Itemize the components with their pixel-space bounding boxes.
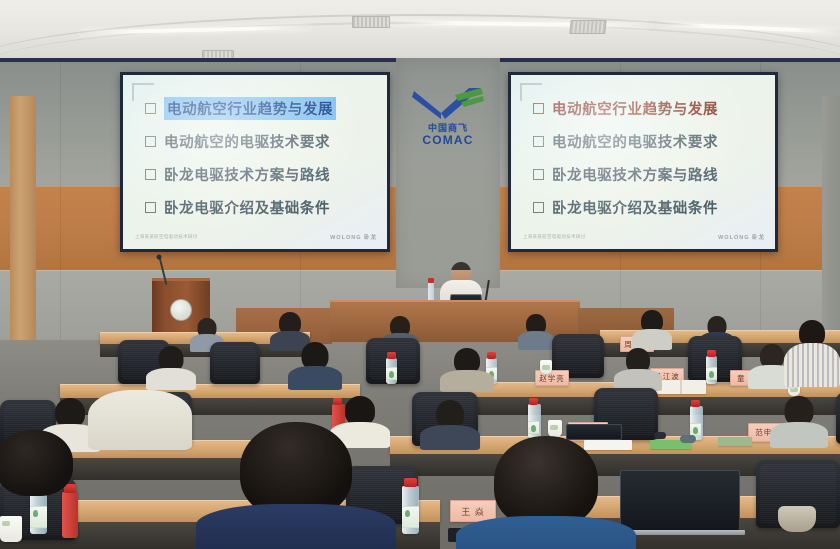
wall-panel-joint: [60, 62, 61, 352]
bottle-cap: [387, 352, 396, 359]
comac-logo-english: COMAC: [404, 134, 492, 147]
attendee-foreground-far-left: [0, 430, 120, 500]
attendee: [288, 342, 342, 388]
slide-bullet-text: 电动航空的电驱技术要求: [552, 131, 718, 152]
slide-bullet-text: 卧龙电驱介绍及基础条件: [164, 197, 330, 218]
checkbox-icon: [533, 202, 544, 213]
slide-bullet-item: 卧龙电驱介绍及基础条件: [145, 196, 377, 218]
attendee-torso: [632, 329, 672, 350]
attendee: [614, 348, 662, 388]
podium-emblem: [170, 299, 192, 321]
ceiling: [0, 0, 840, 62]
bottle-label: [528, 421, 539, 434]
ceiling-air-vent: [569, 20, 606, 34]
slide-bullet-list: 电动航空行业趋势与发展 电动航空的电驱技术要求 卧龙电驱技术方案与路线 卧龙电驱…: [145, 97, 377, 229]
slide-bullet-text: 电动航空行业趋势与发展: [552, 98, 718, 119]
laptop[interactable]: [620, 470, 740, 532]
slide-bullet-text: 电动航空行业趋势与发展: [164, 97, 336, 120]
bottle-label: [386, 367, 397, 380]
slide-bullet-item: 卧龙电驱介绍及基础条件: [533, 196, 765, 218]
attendee-foreground-center: [456, 436, 636, 549]
water-bottle: [528, 404, 541, 438]
attendee: [518, 314, 554, 348]
wall-wood-pilaster-left: [10, 96, 36, 356]
slide-footer-left-text: 上海某某航空电驱动技术研讨: [523, 234, 585, 240]
attendee-head: [0, 430, 73, 496]
attendee-torso: [784, 343, 840, 387]
bottle-cap: [529, 398, 538, 405]
bottle-cap: [707, 350, 716, 357]
green-booklet: [718, 437, 752, 446]
name-placard: 赵学亮: [535, 370, 569, 386]
slide-bullet-item: 电动航空行业趋势与发展: [145, 97, 377, 119]
checkbox-icon: [533, 169, 544, 180]
attendee-torso: [518, 331, 554, 350]
attendee-head: [494, 436, 598, 528]
attendee-torso: [456, 516, 636, 549]
slide-footer-left-text: 上海某某航空电驱动技术研讨: [135, 234, 197, 240]
slide-footer: 上海某某航空电驱动技术研讨 WOLONG 卧龙: [523, 233, 765, 241]
checkbox-icon: [533, 136, 544, 147]
checkbox-icon: [145, 169, 156, 180]
slide-footer: 上海某某航空电驱动技术研讨 WOLONG 卧龙: [135, 233, 377, 241]
paper-cup: [540, 360, 552, 374]
bottle-label: [402, 506, 419, 528]
desk-accessory: [680, 435, 696, 443]
slide-bullet-text: 卧龙电驱介绍及基础条件: [552, 197, 718, 218]
checkbox-icon: [533, 103, 544, 114]
slide-bullet-list: 电动航空行业趋势与发展 电动航空的电驱技术要求 卧龙电驱技术方案与路线 卧龙电驱…: [533, 97, 765, 229]
paper-cup: [548, 420, 562, 437]
open-notebook: [656, 380, 706, 394]
attendee-right-striped: [784, 320, 840, 386]
slide-bullet-item: 卧龙电驱技术方案与路线: [145, 163, 377, 185]
ceiling-air-vent: [352, 16, 390, 28]
comac-mark-icon: [411, 86, 485, 120]
water-bottle: [706, 356, 717, 384]
ceramic-bowl: [778, 506, 816, 532]
bottle-label: [706, 367, 717, 380]
slide-bullet-item: 卧龙电驱技术方案与路线: [533, 163, 765, 185]
wall-pilaster-right: [822, 96, 840, 356]
slide-bullet-item: 电动航空的电驱技术要求: [533, 130, 765, 152]
bottle-label: [30, 506, 47, 528]
bottle-cap: [404, 478, 417, 487]
checkbox-icon: [145, 136, 156, 147]
attendee: [770, 396, 828, 446]
slide-bullet-text: 卧龙电驱技术方案与路线: [164, 164, 330, 185]
wolong-footer-logo: WOLONG 卧龙: [718, 233, 765, 241]
attendee-torso: [440, 370, 494, 392]
attendee: [440, 348, 494, 388]
attendee-foreground-left: [196, 422, 396, 549]
wolong-footer-logo: WOLONG 卧龙: [330, 233, 377, 241]
slide-bullet-text: 卧龙电驱技术方案与路线: [552, 164, 718, 185]
left-projection-screen[interactable]: 电动航空行业趋势与发展 电动航空的电驱技术要求 卧龙电驱技术方案与路线 卧龙电驱…: [120, 72, 390, 252]
slide-bullet-text: 电动航空的电驱技术要求: [164, 131, 330, 152]
water-bottle: [402, 486, 419, 534]
right-projection-screen[interactable]: 电动航空行业趋势与发展 电动航空的电驱技术要求 卧龙电驱技术方案与路线 卧龙电驱…: [508, 72, 778, 252]
water-bottle: [386, 358, 397, 384]
checkbox-icon: [145, 202, 156, 213]
attendee-torso: [288, 366, 342, 390]
phone: [654, 432, 666, 439]
office-chair[interactable]: [836, 392, 840, 444]
comac-logo: 中国商飞 COMAC: [404, 86, 492, 160]
checkbox-icon: [145, 103, 156, 114]
conference-room-photo: 中国商飞 COMAC 电动航空行业趋势与发展 电动航空的电驱技术要求 卧龙电驱技…: [0, 0, 840, 549]
slide-bullet-item: 电动航空行业趋势与发展: [533, 97, 765, 119]
slide-bullet-item: 电动航空的电驱技术要求: [145, 130, 377, 152]
attendee: [632, 310, 672, 348]
office-chair[interactable]: [210, 342, 260, 384]
paper-cup: [0, 516, 22, 542]
attendee-torso: [196, 504, 396, 549]
attendee-torso: [770, 422, 828, 448]
bottle-cap: [691, 400, 700, 407]
